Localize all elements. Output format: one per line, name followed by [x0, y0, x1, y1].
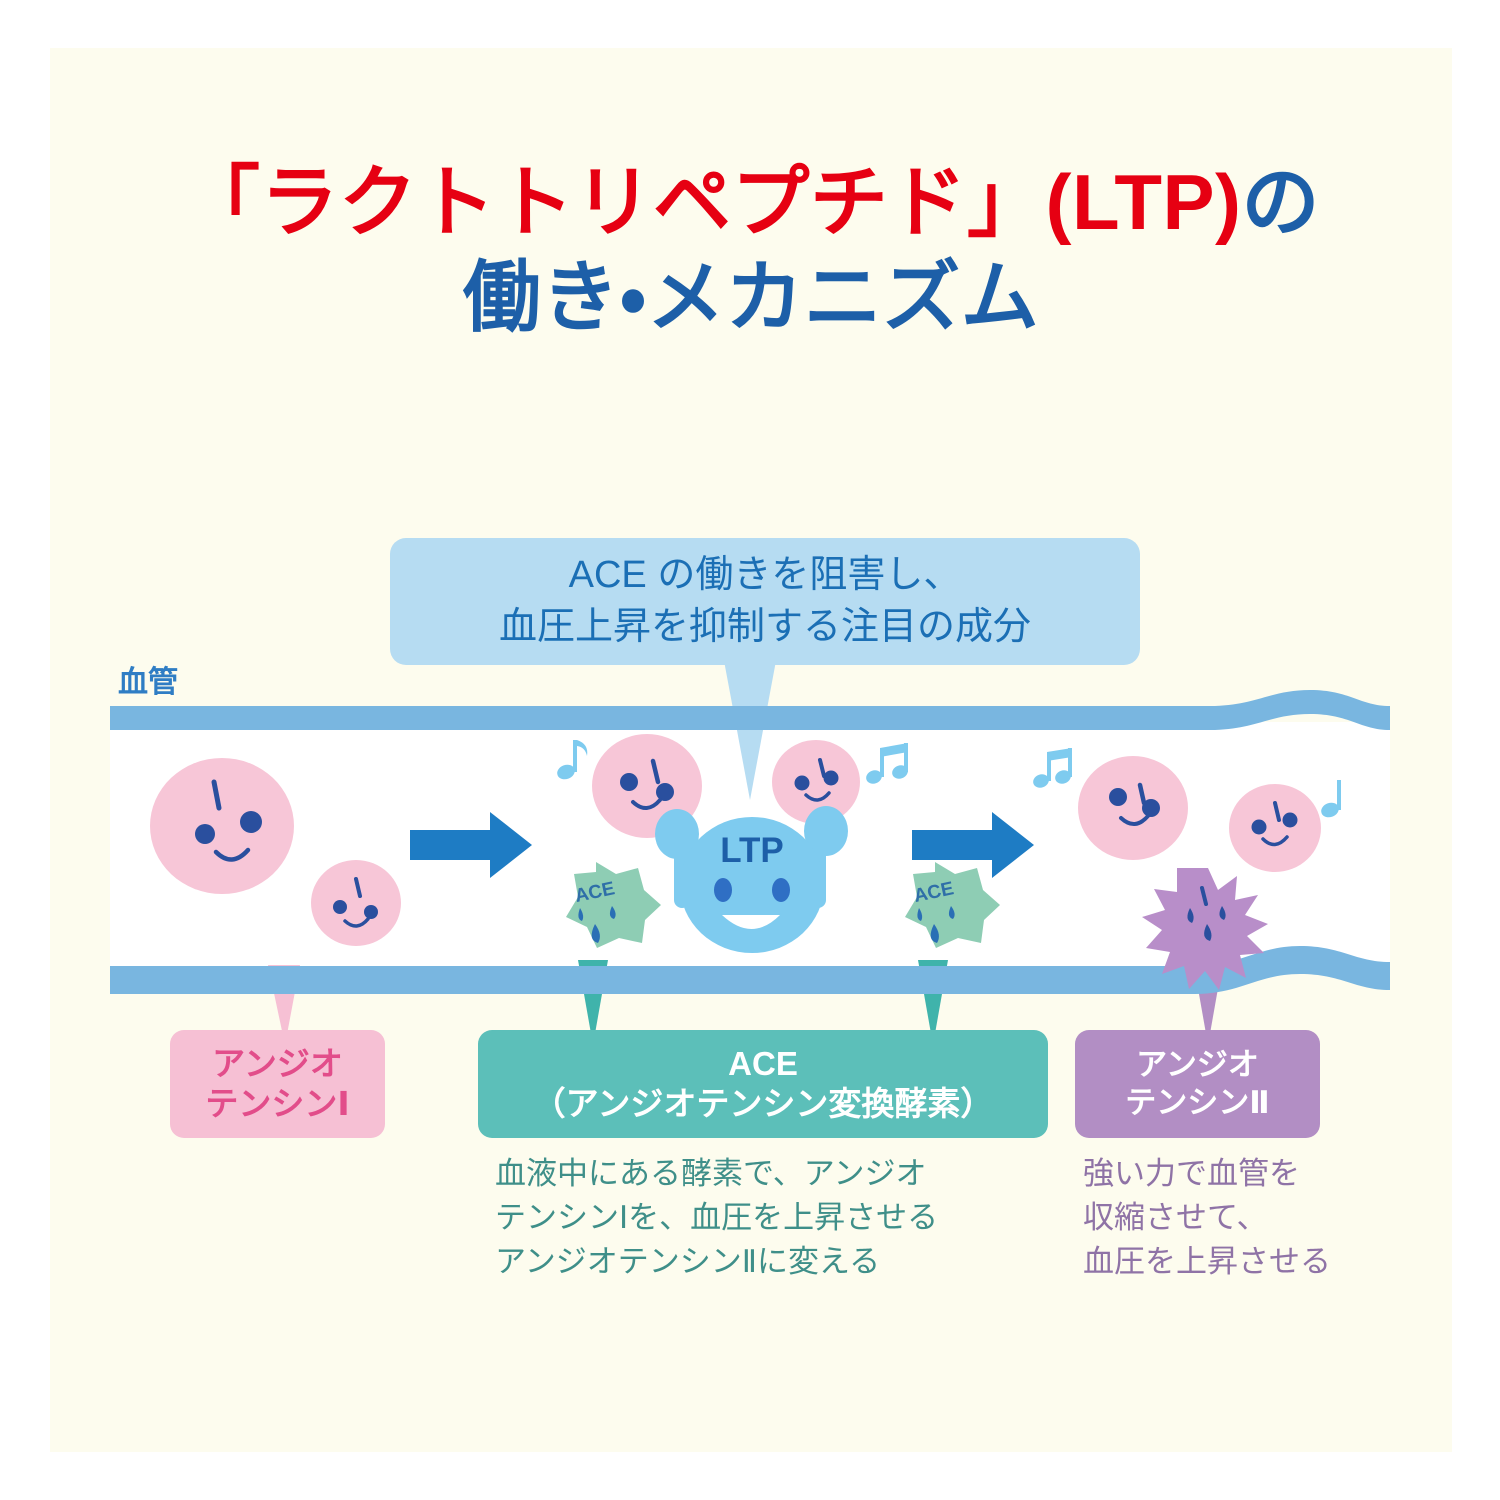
callout-bubble: ACE の働きを阻害し、 血圧上昇を抑制する注目の成分 [390, 538, 1140, 665]
callout-line-2: 血圧上昇を抑制する注目の成分 [499, 602, 1031, 653]
page-title: 「ラクトトリペプチド」(LTP)の 働き・メカニズム [50, 155, 1452, 345]
label-angiotensin1: アンジオ テンシンⅠ [170, 1030, 385, 1138]
description-angiotensin2: 強い力で血管を 収縮させて、 血圧を上昇させる [1083, 1152, 1403, 1284]
label-ace-subtitle: （アンジオテンシン変換酵素） [533, 1084, 994, 1124]
callout-line-1: ACE の働きを阻害し、 [499, 550, 1031, 601]
label-ace-title: ACE [533, 1044, 994, 1084]
label-angiotensin2: アンジオ テンシンⅡ [1075, 1030, 1320, 1138]
title-blue-suffix: の [1241, 158, 1320, 246]
title-line-1: 「ラクトトリペプチド」(LTP)の [50, 155, 1452, 250]
label-ace: ACE （アンジオテンシン変換酵素） [478, 1030, 1048, 1138]
title-red-text: 「ラクトトリペプチド」(LTP) [182, 158, 1241, 246]
infographic-page: 「ラクトトリペプチド」(LTP)の 働き・メカニズム ACE の働きを阻害し、 … [0, 0, 1500, 1500]
vessel-label: 血管 [118, 657, 178, 701]
callout-text: ACE の働きを阻害し、 血圧上昇を抑制する注目の成分 [499, 550, 1031, 653]
vessel-lumen [110, 722, 1390, 974]
title-line-2: 働き・メカニズム [50, 250, 1452, 345]
label-angiotensin2-text: アンジオ テンシンⅡ [1125, 1046, 1269, 1122]
description-ace: 血液中にある酵素で、アンジオ テンシンⅠを、血圧を上昇させる アンジオテンシンⅡ… [495, 1152, 1055, 1284]
label-angiotensin1-text: アンジオ テンシンⅠ [205, 1044, 349, 1125]
